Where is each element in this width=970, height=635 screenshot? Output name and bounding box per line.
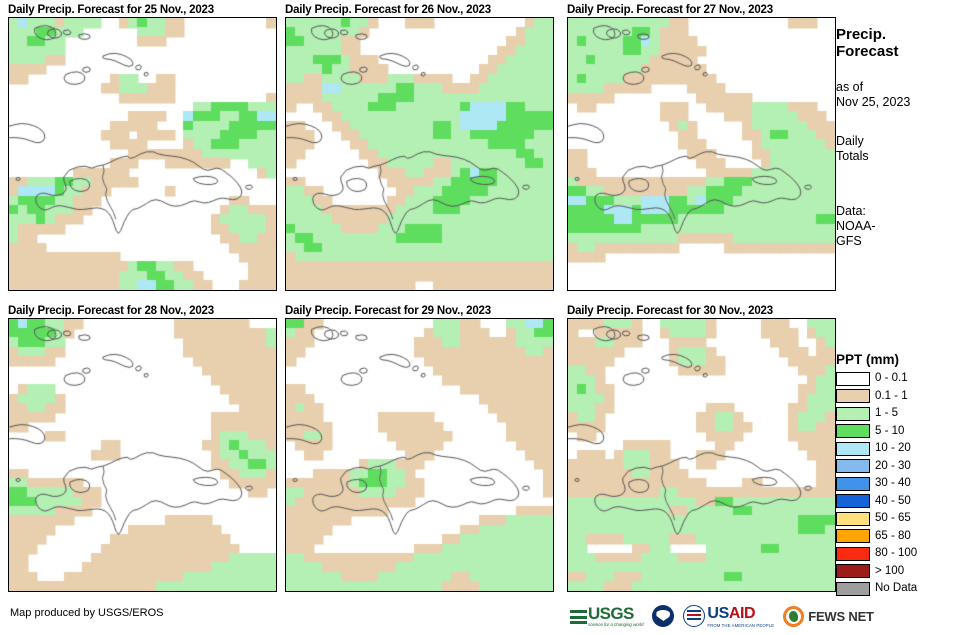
precip-map-26nov[interactable] [285, 17, 554, 291]
data-source-line3: GFS [836, 234, 966, 249]
panel-title: Daily Precip. Forecast for 28 Nov., 2023 [8, 305, 277, 318]
sidebar-heading-line1: Precip. [836, 26, 966, 43]
agency-logos: USGS science for a changing world US AID… [570, 602, 883, 630]
legend-label: 50 - 65 [875, 512, 911, 525]
forecast-panel-29nov: Daily Precip. Forecast for 29 Nov., 2023 [285, 305, 554, 592]
legend-swatch [836, 389, 870, 403]
legend-row: 0 - 0.1 [836, 370, 966, 388]
forecast-panel-30nov: Daily Precip. Forecast for 30 Nov., 2023 [567, 305, 836, 592]
sidebar-heading-line2: Forecast [836, 43, 966, 60]
legend-label: No Data [875, 582, 917, 595]
legend-row: 40 - 50 [836, 493, 966, 511]
legend-row: 80 - 100 [836, 545, 966, 563]
data-source-label: Data: [836, 204, 966, 219]
totals-line1: Daily [836, 134, 966, 149]
usgs-wordmark: USGS [588, 605, 643, 622]
usgs-logo: USGS science for a changing world [570, 605, 643, 627]
precip-map-27nov[interactable] [567, 17, 836, 291]
fews-globe-icon [783, 606, 804, 627]
fewsnet-logo: FEWS NET [783, 606, 874, 627]
usgs-tagline: science for a changing world [588, 622, 643, 627]
usaid-wordmark-aid: AID [729, 605, 755, 623]
usgs-mark-icon [570, 609, 587, 624]
legend-label: 30 - 40 [875, 477, 911, 490]
precip-grid-canvas [9, 319, 276, 591]
legend-row: 50 - 65 [836, 510, 966, 528]
legend-row: 30 - 40 [836, 475, 966, 493]
panel-title: Daily Precip. Forecast for 30 Nov., 2023 [567, 305, 836, 318]
legend-label: 20 - 30 [875, 460, 911, 473]
panel-title: Daily Precip. Forecast for 27 Nov., 2023 [567, 4, 836, 17]
fewsnet-wordmark: FEWS NET [808, 609, 874, 624]
precip-grid-canvas [9, 18, 276, 290]
legend-swatch [836, 424, 870, 438]
legend-swatch [836, 582, 870, 596]
data-source-line2: NOAA- [836, 219, 966, 234]
legend-row: 0.1 - 1 [836, 388, 966, 406]
usaid-logo: US AID FROM THE AMERICAN PEOPLE [683, 605, 774, 628]
legend-swatch [836, 442, 870, 456]
precip-grid-canvas [568, 18, 835, 290]
legend-row: 5 - 10 [836, 423, 966, 441]
legend-swatch [836, 372, 870, 386]
precip-map-25nov[interactable] [8, 17, 277, 291]
legend-row: 20 - 30 [836, 458, 966, 476]
legend-label: 0.1 - 1 [875, 390, 908, 403]
asof-date: Nov 25, 2023 [836, 95, 966, 110]
legend-row: No Data [836, 580, 966, 598]
legend-label: > 100 [875, 565, 904, 578]
precip-map-28nov[interactable] [8, 318, 277, 592]
forecast-panel-26nov: Daily Precip. Forecast for 26 Nov., 2023 [285, 4, 554, 291]
legend-swatch [836, 477, 870, 491]
forecast-panel-25nov: Daily Precip. Forecast for 25 Nov., 2023 [8, 4, 277, 291]
legend-swatch [836, 494, 870, 508]
map-credit: Map produced by USGS/EROS [10, 607, 163, 619]
legend-label: 40 - 50 [875, 495, 911, 508]
precip-grid-canvas [286, 319, 553, 591]
legend-swatch [836, 407, 870, 421]
legend-row: 1 - 5 [836, 405, 966, 423]
forecast-panel-28nov: Daily Precip. Forecast for 28 Nov., 2023 [8, 305, 277, 592]
legend-label: 1 - 5 [875, 407, 898, 420]
noaa-seal-icon [652, 605, 674, 627]
noaa-logo [652, 605, 674, 627]
legend-swatch [836, 512, 870, 526]
panel-title: Daily Precip. Forecast for 26 Nov., 2023 [285, 4, 554, 17]
precip-legend: PPT (mm) 0 - 0.10.1 - 11 - 55 - 1010 - 2… [836, 352, 966, 598]
legend-label: 10 - 20 [875, 442, 911, 455]
panel-title: Daily Precip. Forecast for 29 Nov., 2023 [285, 305, 554, 318]
asof-label: as of [836, 80, 966, 95]
legend-label: 80 - 100 [875, 547, 917, 560]
legend-label: 0 - 0.1 [875, 372, 908, 385]
usaid-tagline: FROM THE AMERICAN PEOPLE [707, 623, 774, 628]
legend-swatch [836, 459, 870, 473]
legend-row: 65 - 80 [836, 528, 966, 546]
legend-swatch [836, 547, 870, 561]
usaid-wordmark-us: US [707, 605, 728, 623]
info-sidebar: Precip. Forecast as of Nov 25, 2023 Dail… [836, 26, 966, 249]
precip-grid-canvas [286, 18, 553, 290]
legend-swatch [836, 564, 870, 578]
legend-label: 65 - 80 [875, 530, 911, 543]
totals-line2: Totals [836, 149, 966, 164]
legend-rows: 0 - 0.10.1 - 11 - 55 - 1010 - 2020 - 303… [836, 370, 966, 598]
panel-title: Daily Precip. Forecast for 25 Nov., 2023 [8, 4, 277, 17]
forecast-panel-27nov: Daily Precip. Forecast for 27 Nov., 2023 [567, 4, 836, 291]
legend-row: 10 - 20 [836, 440, 966, 458]
legend-swatch [836, 529, 870, 543]
precip-map-30nov[interactable] [567, 318, 836, 592]
usaid-seal-icon [683, 605, 705, 627]
precip-grid-canvas [568, 319, 835, 591]
precip-map-29nov[interactable] [285, 318, 554, 592]
legend-label: 5 - 10 [875, 425, 904, 438]
legend-title: PPT (mm) [836, 352, 966, 367]
legend-row: > 100 [836, 563, 966, 581]
